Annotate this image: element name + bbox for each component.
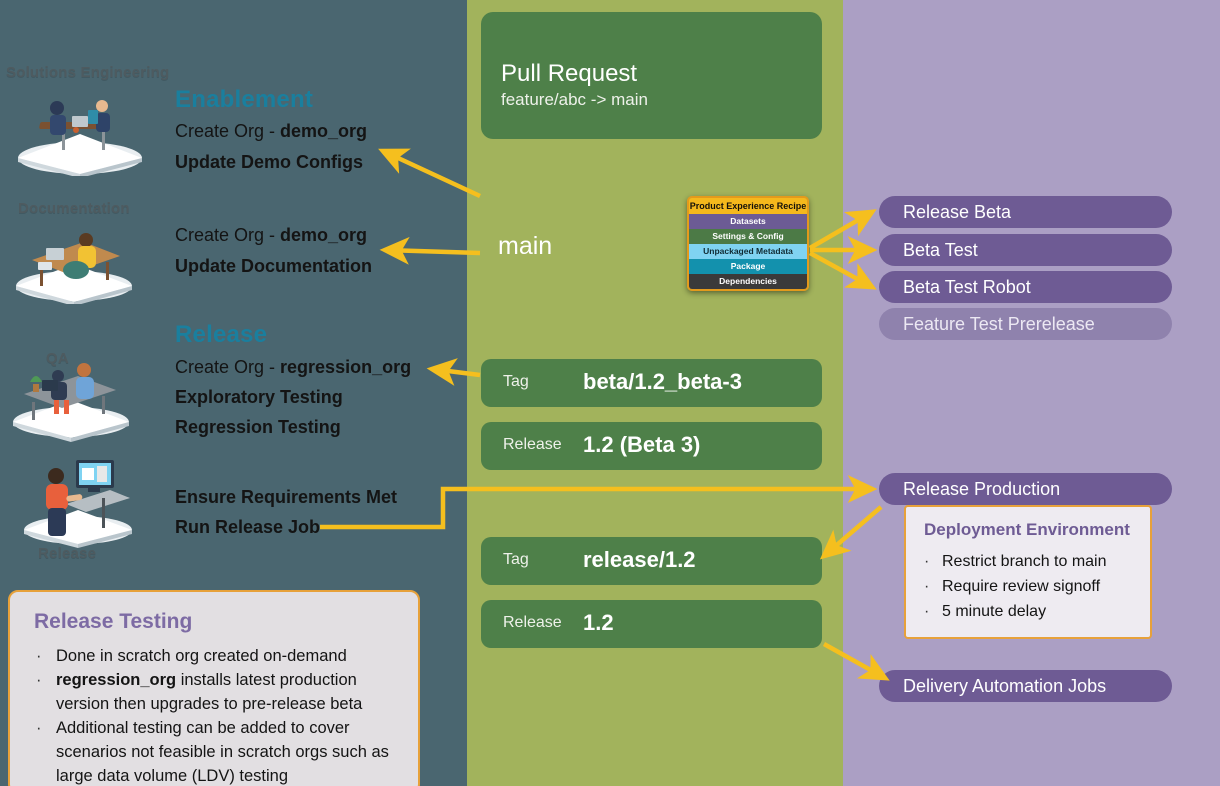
bullet-text: Require review signoff <box>942 578 1100 595</box>
recipe-layer-unpackaged-metadata: Unpackaged Metadata <box>689 244 807 259</box>
list-item: ·Require review signoff <box>924 574 1107 599</box>
bullet-text: 5 minute delay <box>942 603 1046 620</box>
task-prefix: Create Org - <box>175 357 280 377</box>
desk-meeting-illustration <box>10 86 150 176</box>
recipe-layer-package: Package <box>689 259 807 274</box>
persona-label-release: Release <box>38 545 96 562</box>
pull-request-title: Pull Request <box>501 60 637 88</box>
list-item: ·5 minute delay <box>924 599 1107 624</box>
release-testing-bullets: ·Done in scratch org created on-demand ·… <box>34 644 404 786</box>
recipe-layer-dependencies: Dependencies <box>689 274 807 289</box>
release-testing-card: Release Testing ·Done in scratch org cre… <box>8 590 420 786</box>
pill-label: Release Production <box>903 479 1060 500</box>
pull-request-box[interactable]: Pull Request feature/abc -> main <box>481 12 822 139</box>
task-update-demo-configs: Update Demo Configs <box>175 152 363 173</box>
tag-box-value: beta/1.2_beta-3 <box>583 369 742 395</box>
group-title-enablement: Enablement <box>175 86 313 114</box>
desk-writer-illustration <box>10 218 138 304</box>
pill-release-production[interactable]: Release Production <box>879 473 1172 505</box>
pill-label: Beta Test Robot <box>903 277 1031 298</box>
task-strong: demo_org <box>280 121 367 141</box>
task-regression-testing: Regression Testing <box>175 417 341 438</box>
task-update-documentation: Update Documentation <box>175 256 372 277</box>
pill-release-beta[interactable]: Release Beta <box>879 196 1172 228</box>
deployment-environment-bullets: ·Restrict branch to main ·Require review… <box>924 549 1107 624</box>
pill-delivery-automation-jobs[interactable]: Delivery Automation Jobs <box>879 670 1172 702</box>
list-item: ·regression_org installs latest producti… <box>34 668 404 716</box>
task-ensure-requirements-met: Ensure Requirements Met <box>175 487 397 508</box>
standing-desk-illustration <box>18 450 138 550</box>
group-title-release: Release <box>175 321 267 349</box>
list-item: ·Additional testing can be added to cove… <box>34 716 404 786</box>
bullet-icon: · <box>36 716 42 740</box>
release-box-value: 1.2 <box>583 610 614 636</box>
diagram-canvas: Solutions Engineering Enablement Create … <box>0 0 1220 786</box>
release-box-beta[interactable]: Release 1.2 (Beta 3) <box>481 422 822 470</box>
task-prefix: Create Org - <box>175 121 280 141</box>
bullet-icon: · <box>36 644 42 668</box>
release-box-key: Release <box>503 614 562 632</box>
pill-label: Feature Test Prerelease <box>903 314 1095 335</box>
tag-box-key: Tag <box>503 551 529 569</box>
task-exploratory-testing: Exploratory Testing <box>175 387 343 408</box>
automation-column <box>843 0 1220 786</box>
deployment-environment-card: Deployment Environment ·Restrict branch … <box>904 505 1152 639</box>
deployment-environment-title: Deployment Environment <box>924 520 1130 540</box>
task-create-org-demo-org-1: Create Org - demo_org <box>175 121 367 142</box>
task-create-org-demo-org-2: Create Org - demo_org <box>175 225 367 246</box>
persona-label-solutions-engineering: Solutions Engineering <box>6 64 169 81</box>
bullet-text: Done in scratch org created on-demand <box>56 647 347 665</box>
list-item: ·Done in scratch org created on-demand <box>34 644 404 668</box>
release-box-final[interactable]: Release 1.2 <box>481 600 822 648</box>
tag-box-release[interactable]: Tag release/1.2 <box>481 537 822 585</box>
pill-feature-test-prerelease[interactable]: Feature Test Prerelease <box>879 308 1172 340</box>
tag-box-value: release/1.2 <box>583 547 696 573</box>
pill-beta-test[interactable]: Beta Test <box>879 234 1172 266</box>
recipe-layer-datasets: Datasets <box>689 214 807 229</box>
bullet-icon: · <box>924 574 942 599</box>
tag-box-beta[interactable]: Tag beta/1.2_beta-3 <box>481 359 822 407</box>
pill-label: Beta Test <box>903 240 978 261</box>
task-run-release-job: Run Release Job <box>175 517 320 538</box>
arrow-main-to-documentation <box>385 250 480 253</box>
bullet-text: Additional testing can be added to cover… <box>56 719 389 785</box>
main-branch-label: main <box>498 232 552 261</box>
desk-testing-illustration <box>6 352 136 442</box>
bullet-icon: · <box>36 668 42 692</box>
recipe-layer-settings-config: Settings & Config <box>689 229 807 244</box>
release-box-key: Release <box>503 436 562 454</box>
bullet-text: Restrict branch to main <box>942 553 1107 570</box>
pill-label: Release Beta <box>903 202 1011 223</box>
list-item: ·Restrict branch to main <box>924 549 1107 574</box>
release-box-value: 1.2 (Beta 3) <box>583 432 700 458</box>
task-prefix: Create Org - <box>175 225 280 245</box>
bullet-icon: · <box>924 549 942 574</box>
recipe-title: Product Experience Recipe <box>689 198 807 214</box>
bullet-text-bold: regression_org <box>56 671 176 689</box>
release-testing-title: Release Testing <box>34 610 192 634</box>
arrow-main-to-demo-configs <box>383 151 480 196</box>
pull-request-subtitle: feature/abc -> main <box>501 90 648 110</box>
persona-label-documentation: Documentation <box>18 200 130 217</box>
task-strong: demo_org <box>280 225 367 245</box>
task-create-org-regression-org: Create Org - regression_org <box>175 357 411 378</box>
bullet-icon: · <box>924 599 942 624</box>
tag-box-key: Tag <box>503 373 529 391</box>
pill-beta-test-robot[interactable]: Beta Test Robot <box>879 271 1172 303</box>
pill-label: Delivery Automation Jobs <box>903 676 1106 697</box>
product-experience-recipe-stack: Product Experience Recipe Datasets Setti… <box>687 196 809 291</box>
task-strong: regression_org <box>280 357 411 377</box>
